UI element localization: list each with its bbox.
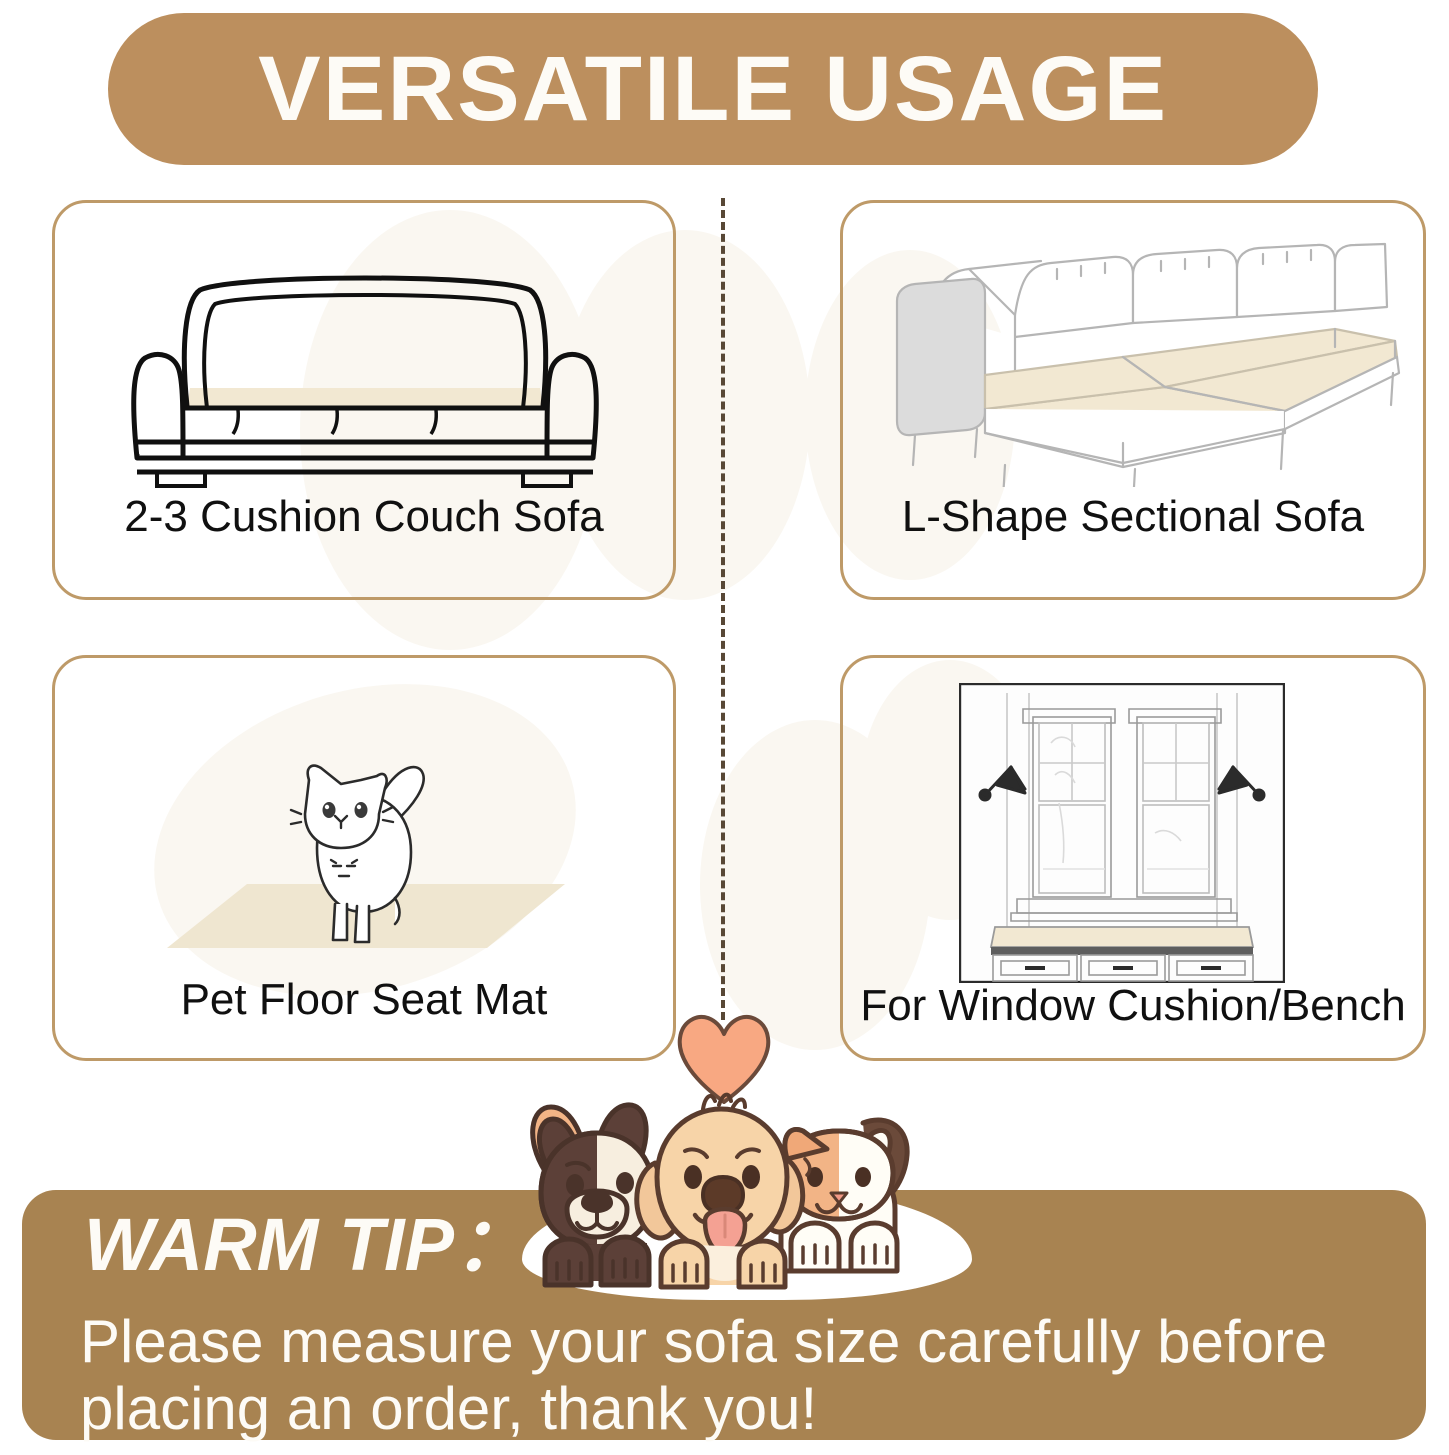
golden-retriever-puppy [637, 1095, 803, 1287]
warm-tip-heading: WARM TIP： [84, 1208, 528, 1282]
warm-tip-line-2: placing an order, thank you! [80, 1375, 1400, 1442]
vertical-dashed-divider [721, 198, 725, 1020]
usage-card-pet-mat: Pet Floor Seat Mat [52, 655, 676, 1061]
usage-card-window-bench: For Window Cushion/Bench [840, 655, 1426, 1061]
cat-on-mat-illustration [95, 718, 635, 998]
couch-sofa-illustration [115, 258, 615, 488]
infographic-root: VERSATILE USAGE [0, 0, 1449, 1455]
card-label: Pet Floor Seat Mat [55, 978, 673, 1022]
card-label: L-Shape Sectional Sofa [843, 495, 1423, 539]
window-bench-illustration [959, 683, 1285, 983]
page-title: VERSATILE USAGE [258, 43, 1168, 135]
usage-card-couch-sofa: 2-3 Cushion Couch Sofa [52, 200, 676, 600]
warm-tip-line-1: Please measure your sofa size carefully … [80, 1308, 1400, 1375]
header-banner: VERSATILE USAGE [108, 13, 1318, 165]
card-label: 2-3 Cushion Couch Sofa [55, 495, 673, 539]
l-shape-sectional-illustration [865, 237, 1405, 487]
usage-card-sectional-sofa: L-Shape Sectional Sofa [840, 200, 1426, 600]
warm-tip-body: Please measure your sofa size carefully … [80, 1308, 1400, 1442]
pets-illustration [497, 1085, 952, 1300]
card-label: For Window Cushion/Bench [843, 984, 1423, 1028]
